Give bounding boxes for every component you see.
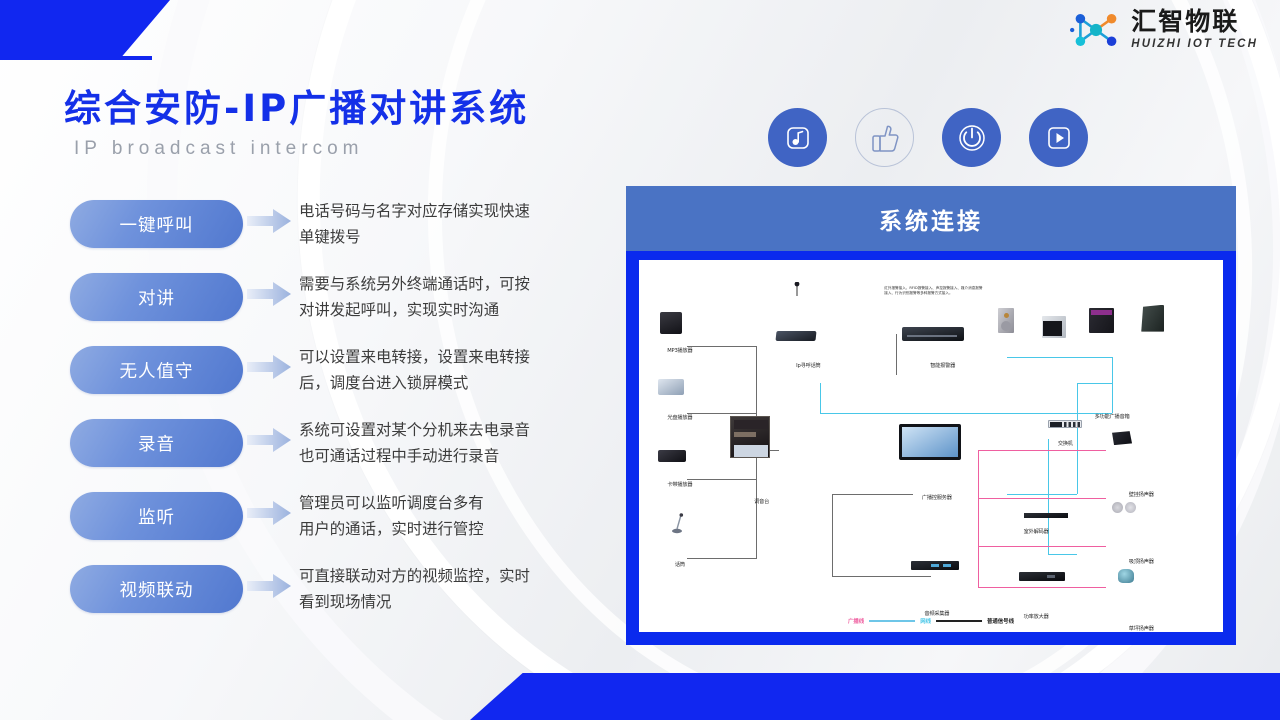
feature-description-line: 用户的通话，实时进行管控 (299, 517, 630, 543)
device-speaker-wall (1042, 316, 1066, 338)
network-line (1007, 357, 1112, 358)
broadcast-line (978, 498, 1106, 499)
device-network-switch (1048, 420, 1082, 428)
feature-row: 监听 管理员可以监听调度台多有 用户的通话，实时进行管控 (70, 490, 630, 563)
feature-pill[interactable]: 一键呼叫 (70, 200, 243, 248)
thumbs-up-icon-button[interactable] (855, 108, 914, 167)
network-line (1077, 383, 1112, 384)
network-line (1077, 439, 1078, 495)
arrow-right-icon (243, 500, 295, 526)
feature-description-line: 可以设置来电转接，设置来电转接 (299, 345, 630, 371)
icon-row (768, 108, 1088, 167)
device-label: 壁挂扬声器 (1129, 491, 1154, 498)
device-speaker-subwoofer (1141, 305, 1164, 332)
network-line (1077, 383, 1078, 439)
device-speaker-lawn (1118, 569, 1134, 583)
play-icon-button[interactable] (1029, 108, 1088, 167)
feature-description-line: 后，调度台进入锁屏模式 (299, 371, 630, 397)
device-mp3-player (660, 312, 682, 334)
feature-description-line: 管理员可以监听调度台多有 (299, 491, 630, 517)
device-outdoor-decoder (1024, 513, 1068, 518)
power-icon-button[interactable] (942, 108, 1001, 167)
feature-list: 一键呼叫 电话号码与名字对应存储实现快速 单键拨号 对讲 需要与 (70, 198, 630, 636)
feature-description: 需要与系统另外终端通话时，可按 对讲发起呼叫，实现实时沟通 (295, 271, 630, 324)
signal-line (687, 558, 757, 559)
system-topology-diagram: 红外报警接入、RFID报警接入、声控报警接入、媒介消息报警接入、行为识别报警等多… (639, 260, 1223, 632)
feature-description: 可直接联动对方的视频监控，实时 看到现场情况 (295, 563, 630, 616)
device-label: 智能报警器 (930, 362, 955, 369)
system-connection-panel: 系统连接 (626, 186, 1236, 645)
device-speaker-column (998, 308, 1014, 333)
device-ip-mic-base (776, 331, 817, 341)
device-cd-player (658, 379, 684, 395)
device-label: 交换机 (1058, 440, 1073, 447)
device-broadcast-server (899, 424, 961, 460)
feature-description: 可以设置来电转接，设置来电转接 后，调度台进入锁屏模式 (295, 344, 630, 397)
feature-row: 对讲 需要与系统另外终端通话时，可按 对讲发起呼叫，实现实时沟通 (70, 271, 630, 344)
feature-description: 电话号码与名字对应存储实现快速 单键拨号 (295, 198, 630, 251)
device-smart-alarm (902, 327, 964, 341)
signal-line (687, 479, 757, 480)
device-label: 吸顶扬声器 (1129, 558, 1154, 565)
brand-logo: 汇智物联 HUIZHI IOT TECH (1070, 8, 1258, 52)
broadcast-line (978, 450, 979, 588)
arrow-right-icon (243, 281, 295, 307)
diagram-legend: 广播线 网线 普通信号线 (848, 617, 1014, 625)
device-microphone (672, 513, 684, 535)
device-label: 室外解码器 (1024, 528, 1049, 535)
network-line (1007, 494, 1077, 495)
feature-description-line: 对讲发起呼叫，实现实时沟通 (299, 298, 630, 324)
feature-description-line: 系统可设置对某个分机来去电录音 (299, 418, 630, 444)
legend-line-network (869, 620, 915, 621)
legend-label-network: 网线 (920, 617, 931, 625)
corner-accent-top-left (0, 0, 170, 56)
signal-line (832, 494, 914, 495)
network-line (1048, 554, 1077, 555)
device-mixer (730, 416, 770, 458)
device-audio-collector (911, 561, 959, 570)
broadcast-line (978, 587, 1106, 588)
arrow-right-icon (243, 208, 295, 234)
legend-line-signal (936, 620, 982, 621)
signal-line (832, 494, 833, 576)
device-label: 音频采集器 (924, 610, 949, 617)
feature-description: 系统可设置对某个分机来去电录音 也可通话过程中手动进行录音 (295, 417, 630, 470)
network-line (1112, 357, 1113, 413)
feature-description-line: 需要与系统另外终端通话时，可按 (299, 272, 630, 298)
feature-description-line: 电话号码与名字对应存储实现快速 (299, 199, 630, 225)
device-label: 草坪扬声器 (1129, 625, 1154, 632)
corner-accent-top-left-line (0, 56, 152, 60)
brand-name-en: HUIZHI IOT TECH (1131, 39, 1258, 51)
molecule-network-icon (1070, 8, 1122, 52)
device-speaker-ceiling (1112, 502, 1136, 513)
device-label: Ip寻呼话筒 (796, 362, 820, 369)
device-label: 调音台 (754, 498, 769, 505)
device-speaker-wall-mount (1112, 431, 1132, 445)
device-speaker-multifunction (1089, 308, 1114, 333)
network-line (1048, 439, 1049, 554)
page-subtitle: IP broadcast intercom (74, 138, 363, 160)
device-ip-paging-microphone (785, 282, 821, 308)
device-label: 话筒 (675, 561, 685, 568)
network-line (820, 383, 821, 413)
broadcast-line (978, 450, 1106, 451)
feature-description-line: 看到现场情况 (299, 590, 630, 616)
panel-frame: 红外报警接入、RFID报警接入、声控报警接入、媒介消息报警接入、行为识别报警等多… (626, 251, 1236, 645)
feature-pill[interactable]: 录音 (70, 419, 243, 467)
device-cassette-player (658, 450, 686, 462)
brand-name-cn: 汇智物联 (1131, 9, 1258, 34)
device-label: 卡带播放器 (667, 481, 692, 488)
feature-row: 视频联动 可直接联动对方的视频监控，实时 看到现场情况 (70, 563, 630, 636)
legend-label-signal: 普通信号线 (987, 617, 1014, 625)
device-label: 广播控服务器 (922, 494, 952, 501)
diagram-note: 红外报警接入、RFID报警接入、声控报警接入、媒介消息报警接入、行为识别报警等多… (884, 286, 984, 296)
legend-label-broadcast: 广播线 (848, 617, 864, 625)
panel-title: 系统连接 (879, 202, 983, 236)
feature-description: 管理员可以监听调度台多有 用户的通话，实时进行管控 (295, 490, 630, 543)
device-label: MP3播放器 (667, 347, 692, 354)
network-line (820, 413, 1112, 414)
arrow-right-icon (243, 427, 295, 453)
feature-description-line: 也可通话过程中手动进行录音 (299, 444, 630, 470)
signal-line (687, 346, 757, 347)
page-title: 综合安防-IP广播对讲系统 (64, 78, 529, 132)
corner-accent-bottom-right (470, 673, 1280, 720)
feature-pill[interactable]: 无人值守 (70, 346, 243, 394)
device-label: 功率放大器 (1024, 613, 1049, 620)
feature-row: 一键呼叫 电话号码与名字对应存储实现快速 单键拨号 (70, 198, 630, 271)
broadcast-line (978, 546, 1106, 547)
arrow-right-icon (243, 354, 295, 380)
feature-row: 无人值守 可以设置来电转接，设置来电转接 后，调度台进入锁屏模式 (70, 344, 630, 417)
feature-description-line: 单键拨号 (299, 225, 630, 251)
music-note-icon-button[interactable] (768, 108, 827, 167)
device-label: 光盘播放器 (667, 414, 692, 421)
signal-line (896, 334, 897, 375)
feature-row: 录音 系统可设置对某个分机来去电录音 也可通话过程中手动进行录音 (70, 417, 630, 490)
signal-line (687, 413, 757, 414)
feature-pill[interactable]: 对讲 (70, 273, 243, 321)
feature-pill[interactable]: 视频联动 (70, 565, 243, 613)
panel-header: 系统连接 (626, 186, 1236, 251)
feature-description-line: 可直接联动对方的视频监控，实时 (299, 564, 630, 590)
signal-line (832, 576, 931, 577)
device-power-amplifier (1019, 572, 1065, 581)
feature-pill[interactable]: 监听 (70, 492, 243, 540)
arrow-right-icon (243, 573, 295, 599)
device-label: 多功能广播音箱 (1095, 413, 1130, 420)
